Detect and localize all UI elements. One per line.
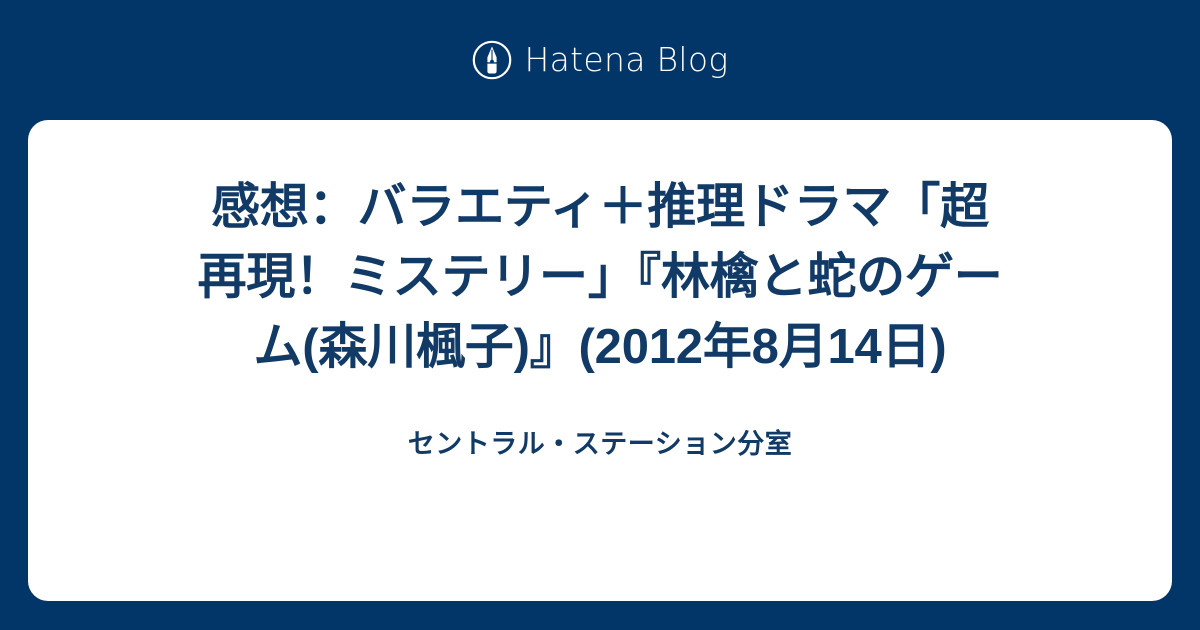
hatena-pen-nib-icon [472,40,512,80]
brand-name-label: Hatena Blog [525,40,729,80]
og-image-canvas: Hatena Blog 感想：バラエティ＋推理ドラマ「超再現！ミステリー」『林檎… [0,0,1200,630]
hatena-blog-brand[interactable]: Hatena Blog [472,38,729,82]
blog-title: セントラル・ステーション分室 [408,382,792,462]
entry-card: 感想：バラエティ＋推理ドラマ「超再現！ミステリー」『林檎と蛇のゲーム(森川楓子)… [28,120,1172,601]
entry-title: 感想：バラエティ＋推理ドラマ「超再現！ミステリー」『林檎と蛇のゲーム(森川楓子)… [190,172,1010,382]
brand-header: Hatena Blog [0,0,1200,120]
